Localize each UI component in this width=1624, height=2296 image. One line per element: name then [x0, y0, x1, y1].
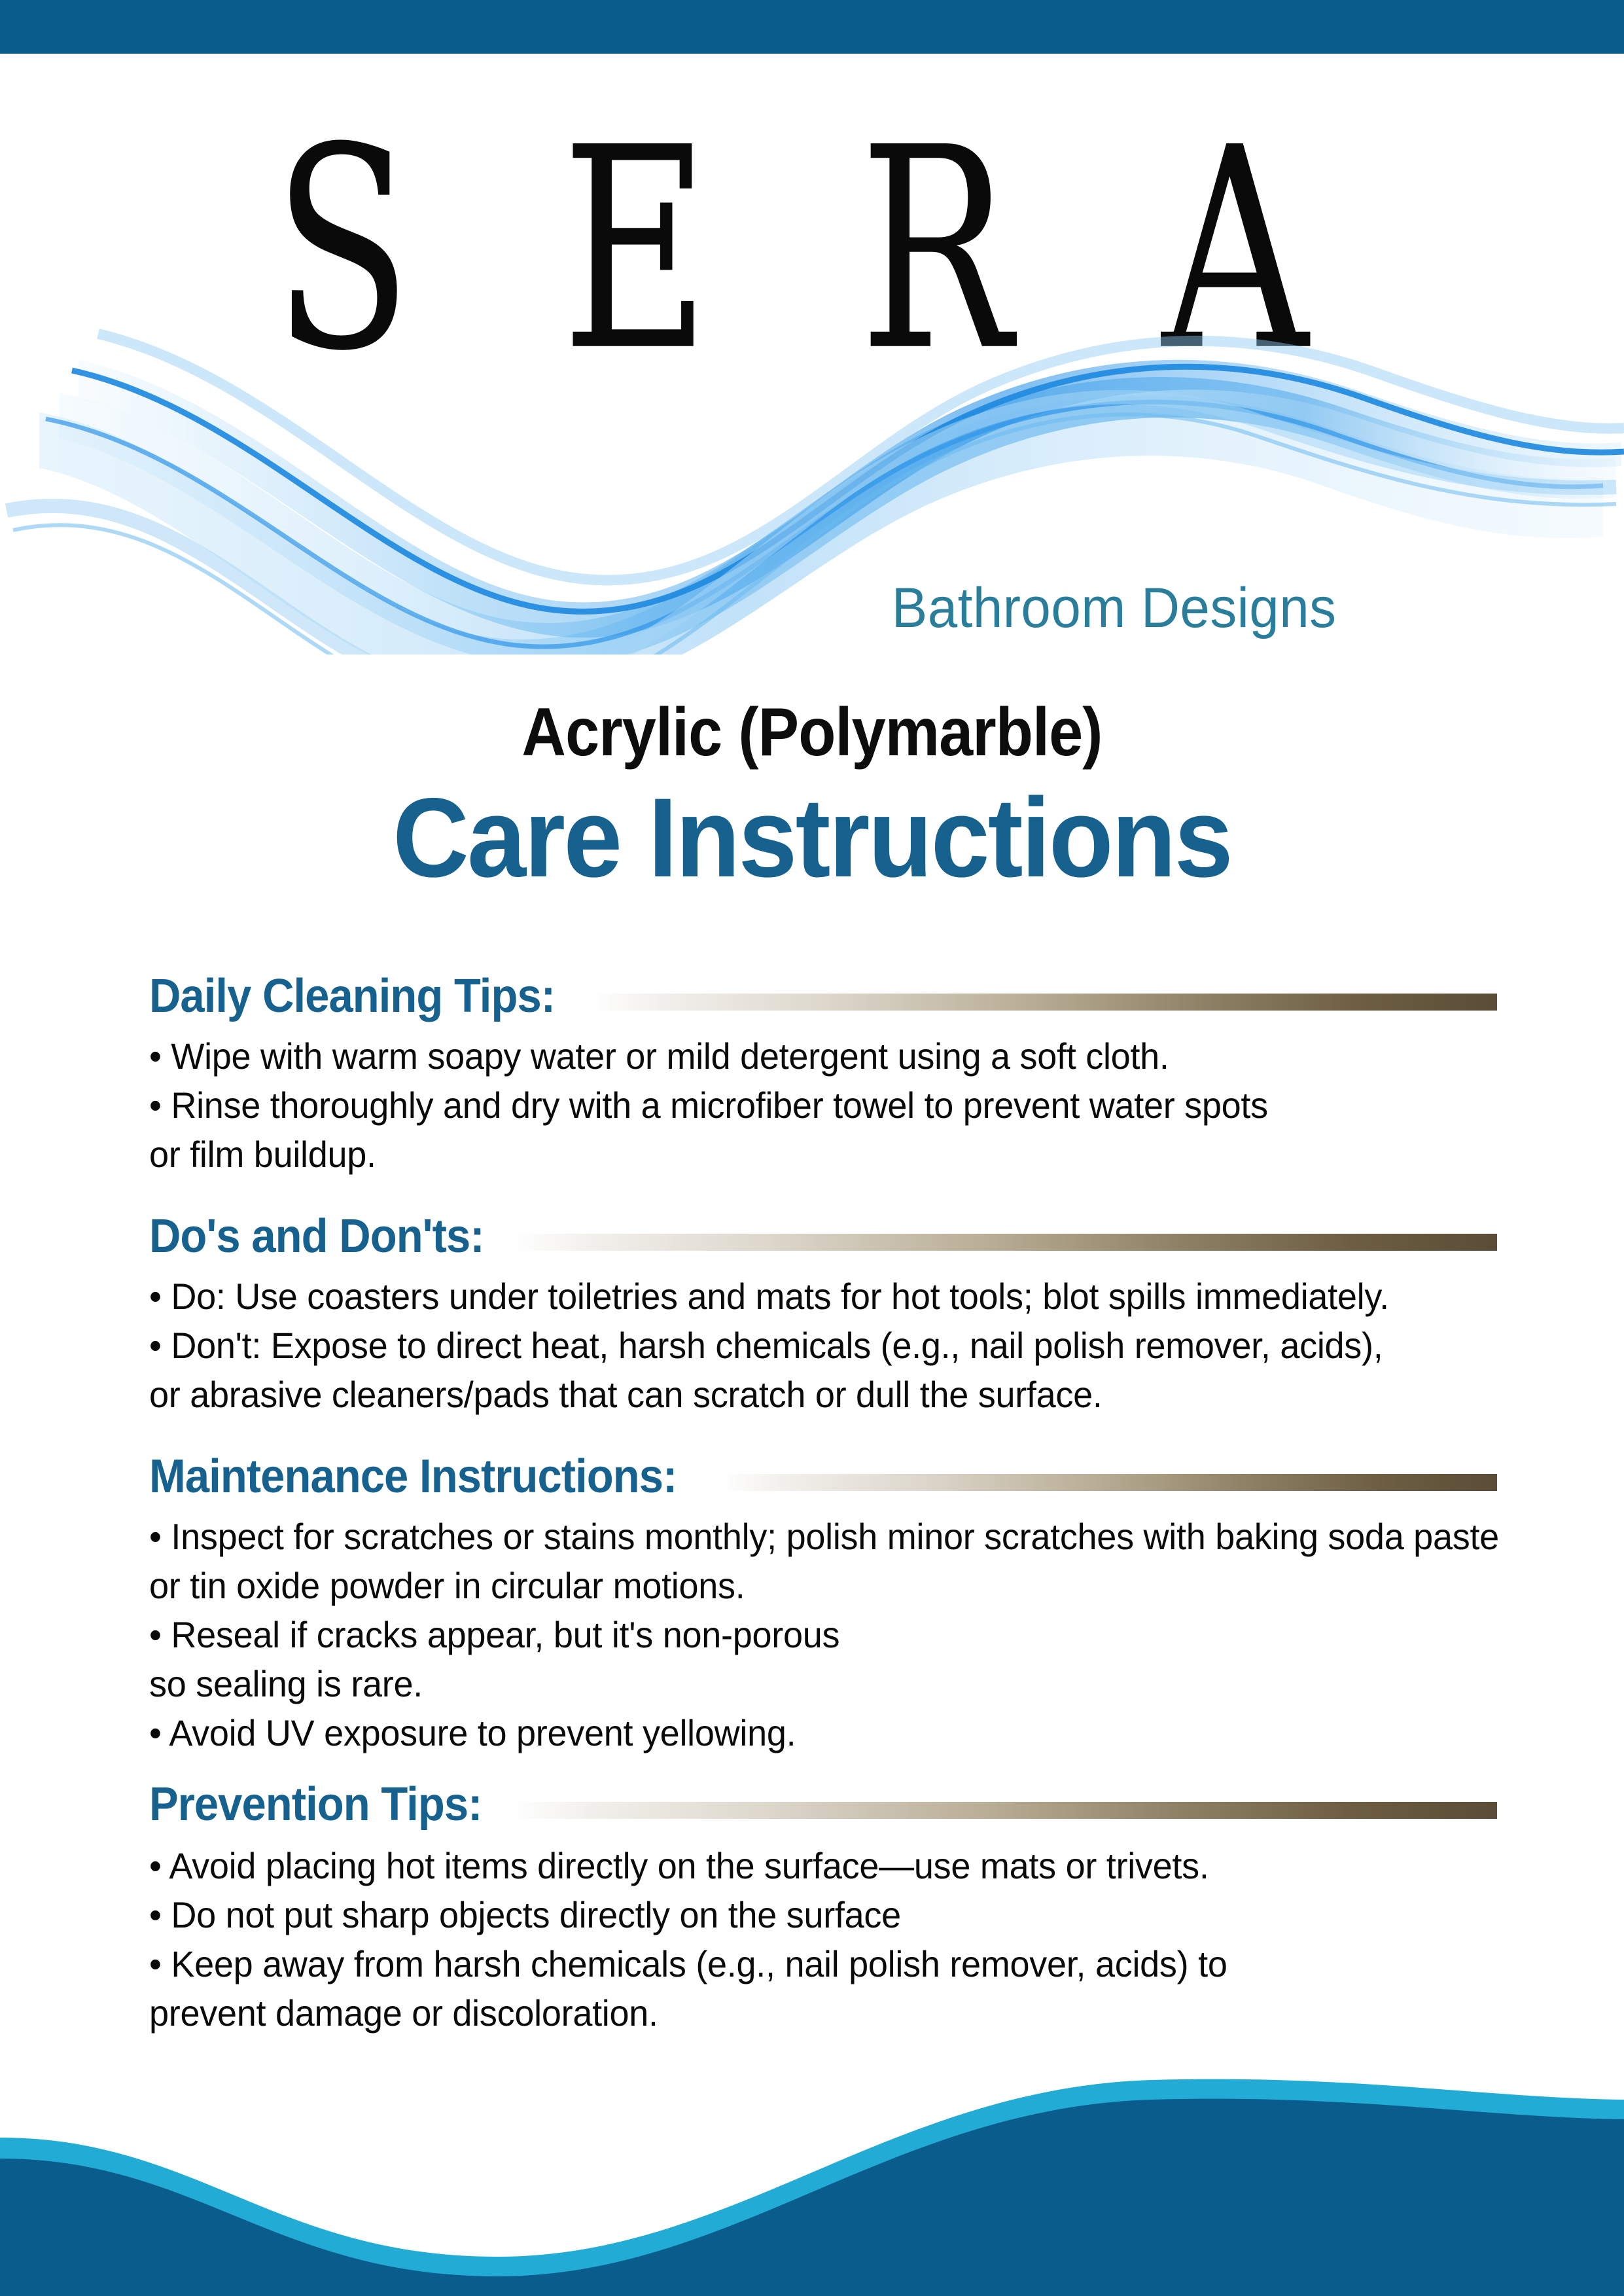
bullet-line: • Inspect for scratches or stains monthl… — [149, 1512, 1450, 1561]
brand-logo-block: S E R A — [0, 98, 1624, 700]
section-header-row: Prevention Tips: — [149, 1776, 1497, 1829]
footer-wave-blue — [0, 2099, 1624, 2296]
section-divider-rule — [511, 1802, 1497, 1819]
section-heading: Daily Cleaning Tips: — [149, 973, 555, 1021]
section: Do's and Don'ts:• Do: Use coasters under… — [149, 1208, 1497, 1441]
section-heading: Do's and Don'ts: — [149, 1213, 484, 1261]
section-body: • Avoid placing hot items directly on th… — [149, 1829, 1497, 2037]
decorative-wave-graphic — [0, 314, 1624, 655]
brand-tagline: Bathroom Designs — [891, 576, 1336, 641]
section-header-row: Do's and Don'ts: — [149, 1208, 1497, 1261]
bullet-line: • Reseal if cracks appear, but it's non-… — [149, 1610, 1450, 1659]
bullet-line: so sealing is rare. — [149, 1659, 1450, 1708]
care-instructions-poster: S E R A — [0, 0, 1624, 2296]
bullet-line: • Avoid placing hot items directly on th… — [149, 1841, 1450, 1890]
bullet-line: or film buildup. — [149, 1130, 1450, 1179]
bullet-line: or abrasive cleaners/pads that can scrat… — [149, 1370, 1450, 1419]
bullet-line: prevent damage or discoloration. — [149, 1988, 1450, 2037]
section-divider-rule — [513, 1234, 1497, 1251]
bullet-line: • Don't: Expose to direct heat, harsh ch… — [149, 1321, 1450, 1370]
section: Maintenance Instructions:• Inspect for s… — [149, 1448, 1497, 1769]
document-title: Care Instructions — [48, 779, 1575, 897]
section-header-row: Maintenance Instructions: — [149, 1448, 1497, 1501]
section-heading: Prevention Tips: — [149, 1781, 482, 1829]
bullet-line: • Avoid UV exposure to prevent yellowing… — [149, 1708, 1450, 1757]
bullet-line: • Keep away from harsh chemicals (e.g., … — [149, 1939, 1450, 1988]
bullet-line: • Do not put sharp objects directly on t… — [149, 1890, 1450, 1939]
document-subtitle: Acrylic (Polymarble) — [81, 694, 1543, 772]
section: Daily Cleaning Tips:• Wipe with warm soa… — [149, 967, 1497, 1201]
top-accent-bar — [0, 0, 1624, 54]
section-divider-rule — [720, 1474, 1497, 1491]
bullet-line: • Do: Use coasters under toiletries and … — [149, 1272, 1450, 1321]
sections-container: Daily Cleaning Tips:• Wipe with warm soa… — [149, 967, 1497, 2044]
section-divider-rule — [590, 994, 1497, 1011]
section-body: • Inspect for scratches or stains monthl… — [149, 1501, 1497, 1769]
bullet-line: • Wipe with warm soapy water or mild det… — [149, 1031, 1450, 1081]
bullet-line: • Rinse thoroughly and dry with a microf… — [149, 1081, 1450, 1130]
section-heading: Maintenance Instructions: — [149, 1453, 677, 1501]
section-body: • Wipe with warm soapy water or mild det… — [149, 1021, 1497, 1201]
footer-wave-decoration — [0, 2060, 1624, 2296]
bullet-line: or tin oxide powder in circular motions. — [149, 1561, 1450, 1610]
section: Prevention Tips:• Avoid placing hot item… — [149, 1776, 1497, 2037]
section-body: • Do: Use coasters under toiletries and … — [149, 1261, 1497, 1441]
section-header-row: Daily Cleaning Tips: — [149, 967, 1497, 1021]
